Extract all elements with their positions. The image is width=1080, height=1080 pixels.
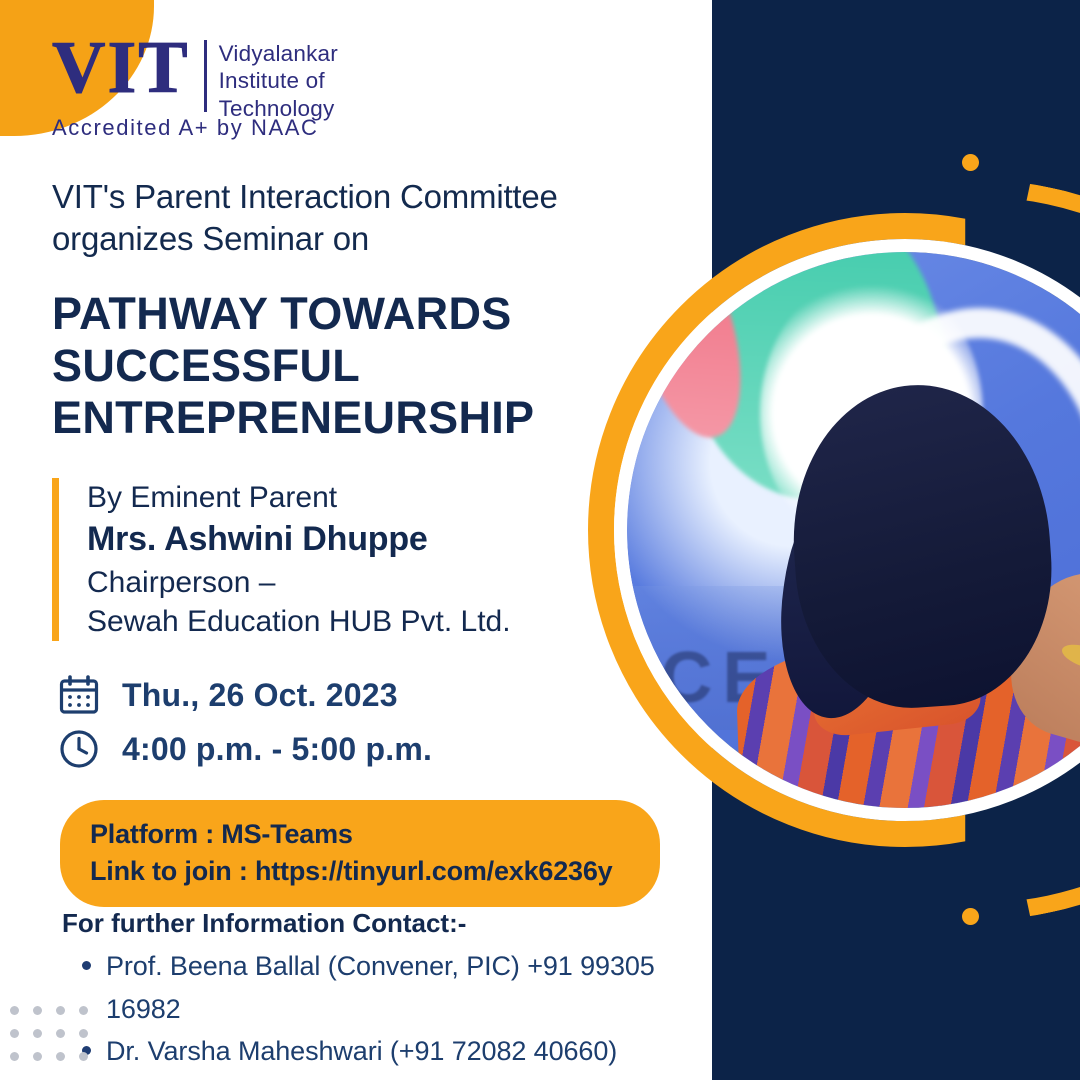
- logo-divider: [204, 40, 207, 112]
- grid-dot: [79, 1052, 88, 1061]
- vit-logo-wordmark: Vidyalankar Institute of Technology: [219, 34, 338, 122]
- grid-dot: [56, 1029, 65, 1038]
- accreditation-text: Accredited A+ by NAAC: [52, 115, 319, 141]
- dot-grid-decoration: [10, 1006, 102, 1075]
- time-row: 4:00 p.m. - 5:00 p.m.: [58, 728, 432, 770]
- speaker-name: Mrs. Ashwini Dhuppe: [87, 517, 697, 563]
- content-column: VIT Vidyalankar Institute of Technology …: [0, 0, 712, 1080]
- platform-banner[interactable]: Platform : MS-Teams Link to join : https…: [60, 800, 660, 907]
- list-item: Dr. Varsha Maheshwari (+91 72082 40660): [106, 1030, 712, 1073]
- grid-dot: [33, 1052, 42, 1061]
- clock-icon: [58, 728, 100, 770]
- grid-dot: [33, 1029, 42, 1038]
- calendar-icon: [58, 674, 100, 716]
- speaker-organization: Sewah Education HUB Pvt. Ltd.: [87, 602, 697, 641]
- logo-line-2: Institute of: [219, 67, 338, 94]
- intro-text: VIT's Parent Interaction Committee organ…: [52, 176, 692, 260]
- list-item: Prof. Beena Ballal (Convener, PIC) +91 9…: [106, 945, 712, 1030]
- title-line-2: SUCCESSFUL: [52, 340, 672, 392]
- grid-dot: [56, 1006, 65, 1015]
- contacts-block: For further Information Contact:- Prof. …: [62, 908, 712, 1080]
- speaker-prefix: By Eminent Parent: [87, 478, 697, 517]
- navy-side-panel: [712, 0, 1080, 1080]
- list-item: Prof. Nisy Mathew (+91 9167007871): [106, 1073, 712, 1080]
- intro-line-2: organizes Seminar on: [52, 218, 692, 260]
- seminar-title: PATHWAY TOWARDS SUCCESSFUL ENTREPRENEURS…: [52, 288, 672, 445]
- grid-dot: [10, 1029, 19, 1038]
- date-row: Thu., 26 Oct. 2023: [58, 674, 432, 716]
- title-line-3: ENTREPRENEURSHIP: [52, 392, 672, 444]
- join-link[interactable]: Link to join : https://tinyurl.com/exk62…: [90, 853, 630, 890]
- grid-dot: [79, 1029, 88, 1038]
- intro-line-1: VIT's Parent Interaction Committee: [52, 176, 692, 218]
- grid-dot: [33, 1006, 42, 1015]
- grid-dot: [10, 1006, 19, 1015]
- contacts-heading: For further Information Contact:-: [62, 908, 712, 939]
- platform-label: Platform : MS-Teams: [90, 816, 630, 853]
- grid-dot: [56, 1052, 65, 1061]
- title-line-1: PATHWAY TOWARDS: [52, 288, 672, 340]
- schedule-block: Thu., 26 Oct. 2023 4:00 p.m. - 5:00 p.m.: [58, 674, 432, 782]
- event-time: 4:00 p.m. - 5:00 p.m.: [122, 731, 432, 768]
- vit-logo: VIT Vidyalankar Institute of Technology: [52, 34, 338, 122]
- speaker-block: By Eminent Parent Mrs. Ashwini Dhuppe Ch…: [52, 478, 697, 641]
- speaker-role: Chairperson –: [87, 563, 697, 602]
- vit-logo-mark: VIT: [52, 34, 190, 102]
- contacts-list: Prof. Beena Ballal (Convener, PIC) +91 9…: [62, 945, 712, 1080]
- event-poster: CE VIT Vidyalankar Institute of: [0, 0, 1080, 1080]
- logo-line-1: Vidyalankar: [219, 40, 338, 67]
- grid-dot: [79, 1006, 88, 1015]
- grid-dot: [10, 1052, 19, 1061]
- event-date: Thu., 26 Oct. 2023: [122, 677, 398, 714]
